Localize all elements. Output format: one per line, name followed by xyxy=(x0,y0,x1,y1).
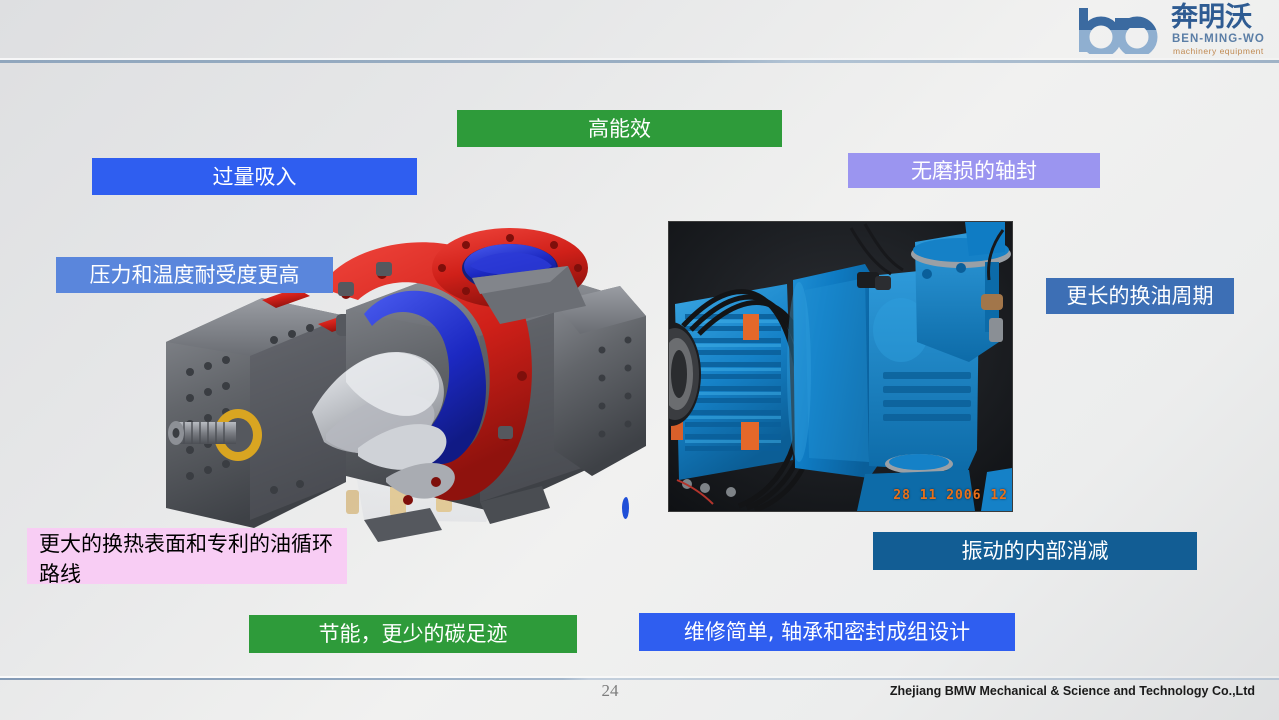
company-logo: 奔明沃 BEN-MING-WO machinery equipment xyxy=(1073,2,1273,58)
callout-label-wearless-shaft-seal: 无磨损的轴封 xyxy=(848,153,1100,188)
footer-divider xyxy=(0,678,1279,680)
callout-label-energy-saving-carbon-footprint: 节能，更少的碳足迹 xyxy=(249,615,577,653)
callout-label-higher-pressure-temp-tolerance: 压力和温度耐受度更高 xyxy=(56,257,333,293)
page-number: 24 xyxy=(594,681,626,701)
callout-label-easy-maintenance-bearing-seal: 维修简单, 轴承和密封成组设计 xyxy=(639,613,1015,651)
compressor-cad-render xyxy=(150,190,670,550)
header-divider xyxy=(0,60,1279,63)
stray-blue-glyph-artifact xyxy=(622,497,629,519)
footer-company-name: Zhejiang BMW Mechanical & Science and Te… xyxy=(890,684,1255,698)
callout-label-high-efficiency: 高能效 xyxy=(457,110,782,147)
callout-label-internal-vibration-damping: 振动的内部消减 xyxy=(873,532,1197,570)
logo-tagline: machinery equipment xyxy=(1173,46,1264,56)
callout-label-excess-suction: 过量吸入 xyxy=(92,158,417,195)
callout-label-larger-heat-exchange-surface: 更大的换热表面和专利的油循环路线 xyxy=(27,528,347,584)
photo-timestamp: 28 11 2006 12 xyxy=(893,488,1008,503)
slide-canvas: 奔明沃 BEN-MING-WO machinery equipment xyxy=(0,0,1279,720)
compressor-installation-photo: 28 11 2006 12 xyxy=(668,221,1013,512)
logo-chinese-name: 奔明沃 xyxy=(1171,3,1252,33)
logo-latin-name: BEN-MING-WO xyxy=(1172,33,1265,45)
photo-content xyxy=(669,222,1012,511)
bo-monogram-icon xyxy=(1075,6,1167,54)
callout-label-longer-oil-change-interval: 更长的换油周期 xyxy=(1046,278,1234,314)
